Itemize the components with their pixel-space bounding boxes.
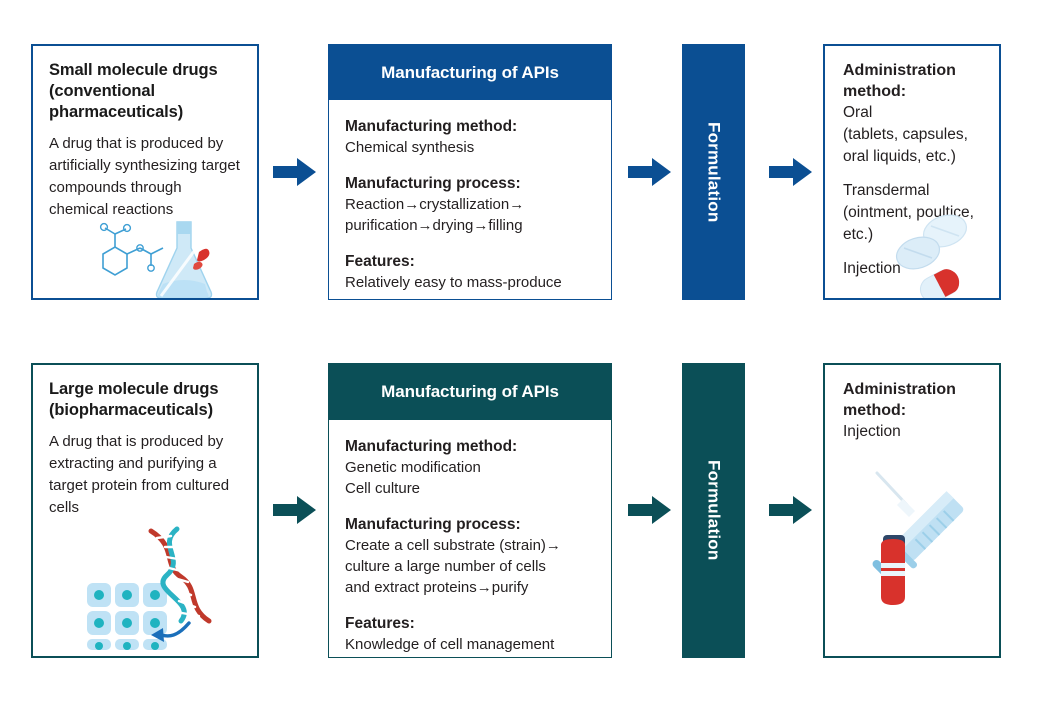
api-section-text: Create a cell substrate (strain)→ cultur… [345, 535, 595, 598]
administration-option-oral: Oral (tablets, capsules, oral liquids, e… [843, 102, 981, 168]
api-section-text: Chemical synthesis [345, 137, 595, 158]
syringe-vial-icon [861, 465, 991, 615]
api-section-label: Manufacturing method: [345, 436, 595, 457]
small-molecule-api-body: Manufacturing method: Chemical synthesis… [329, 100, 611, 293]
api-section-label: Manufacturing method: [345, 116, 595, 137]
arrow-formulation-to-administration-row2 [769, 495, 813, 525]
api-section-label: Features: [345, 251, 595, 272]
api-section-text: Knowledge of cell management and cultiva… [345, 634, 595, 658]
small-molecule-api-header: Manufacturing of APIs [329, 45, 611, 100]
api-section: Manufacturing process: Create a cell sub… [345, 514, 595, 598]
small-molecule-title: Small molecule drugs (conventional pharm… [49, 60, 241, 123]
large-molecule-administration-card: Administration method: Injection [823, 363, 1001, 658]
large-molecule-api-body: Manufacturing method: Genetic modificati… [329, 420, 611, 658]
tablets-capsule-icon [887, 206, 1001, 300]
arrow-api-to-formulation-row1 [628, 157, 672, 187]
api-section: Manufacturing process: Reaction→crystall… [345, 173, 595, 236]
small-molecule-formulation-bar: Formulation [682, 44, 745, 300]
small-molecule-api-card: Manufacturing of APIs Manufacturing meth… [328, 44, 612, 300]
administration-method-title: Administration method: [843, 379, 981, 421]
api-section: Manufacturing method: Chemical synthesis [345, 116, 595, 158]
diagram-canvas: Small molecule drugs (conventional pharm… [0, 0, 1037, 701]
arrow-api-to-formulation-row2 [628, 495, 672, 525]
dna-cell-culture-icon [81, 525, 241, 650]
large-molecule-intro-card: Large molecule drugs (biopharmaceuticals… [31, 363, 259, 658]
api-section-text: Reaction→crystallization→ purification→d… [345, 194, 595, 236]
api-section: Features: Relatively easy to mass-produc… [345, 251, 595, 293]
arrow-formulation-to-administration-row1 [769, 157, 813, 187]
api-section-text: Genetic modification Cell culture [345, 457, 595, 499]
small-molecule-administration-card: Administration method: Oral (tablets, ca… [823, 44, 1001, 300]
api-section-label: Features: [345, 613, 595, 634]
formulation-label: Formulation [704, 122, 724, 222]
small-molecule-description: A drug that is produced by artificially … [49, 133, 241, 221]
large-molecule-title: Large molecule drugs (biopharmaceuticals… [49, 379, 241, 421]
administration-option-injection: Injection [843, 421, 981, 443]
api-section-text: Relatively easy to mass-produce [345, 272, 595, 293]
large-molecule-api-card: Manufacturing of APIs Manufacturing meth… [328, 363, 612, 658]
formulation-label: Formulation [704, 460, 724, 560]
large-molecule-administration-content: Administration method: Injection [825, 365, 999, 443]
api-section-label: Manufacturing process: [345, 173, 595, 194]
large-molecule-intro-content: Large molecule drugs (biopharmaceuticals… [33, 365, 257, 519]
large-molecule-api-header: Manufacturing of APIs [329, 364, 611, 420]
arrow-intro-to-api-row2 [273, 495, 317, 525]
large-molecule-formulation-bar: Formulation [682, 363, 745, 658]
large-molecule-description: A drug that is produced by extracting an… [49, 431, 241, 519]
molecule-flask-icon [95, 214, 225, 300]
api-section: Features: Knowledge of cell management a… [345, 613, 595, 658]
administration-method-title: Administration method: [843, 60, 981, 102]
arrow-intro-to-api-row1 [273, 157, 317, 187]
small-molecule-intro-content: Small molecule drugs (conventional pharm… [33, 46, 257, 221]
api-section: Manufacturing method: Genetic modificati… [345, 436, 595, 499]
api-section-label: Manufacturing process: [345, 514, 595, 535]
small-molecule-intro-card: Small molecule drugs (conventional pharm… [31, 44, 259, 300]
